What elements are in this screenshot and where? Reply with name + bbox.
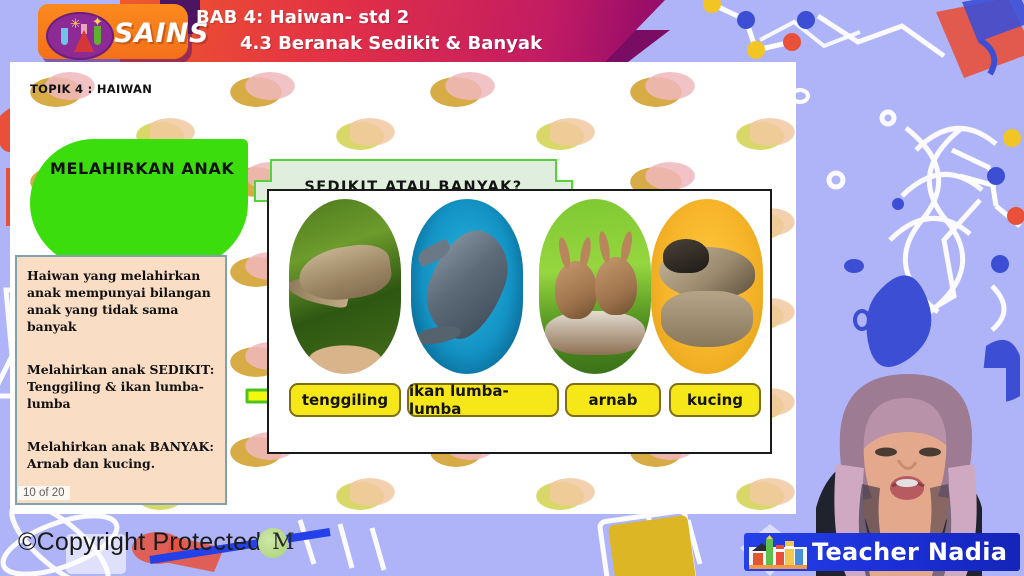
animal-label-rabbit: arnab (565, 383, 661, 417)
info-paragraph-2: Melahirkan anak SEDIKIT: Tenggiling & ik… (27, 361, 215, 412)
dolphin-fluke (416, 323, 462, 348)
animal-label-cat: kucing (669, 383, 761, 417)
subject-label: SAINS (114, 18, 209, 49)
school-supplies-icon (748, 535, 808, 569)
teacher-name-bar: Teacher Nadia (744, 533, 1020, 571)
sparkle-icon: ✳ (70, 16, 81, 32)
info-paragraph-3: Melahirkan anak BANYAK: Arnab dan kucing… (27, 438, 215, 472)
dolphin-photo (411, 199, 523, 374)
subject-badge: ✳ ✦ SAINS (38, 4, 188, 59)
animal-photo-panel: tenggiling ikan lumba-lumba arnab kucing (267, 189, 772, 454)
rabbit-one (555, 261, 597, 319)
animal-cell-rabbit (539, 199, 651, 374)
cat-kittens (661, 291, 753, 347)
animal-cell-dolphin (411, 199, 523, 374)
animal-cell-cat (651, 199, 763, 374)
animal-label-tenggiling: tenggiling (289, 383, 401, 417)
rabbit-ear-icon (557, 236, 572, 269)
tenggiling-photo (289, 199, 401, 374)
slide-stage: ✳ ✦ SAINS BAB 4: Haiwan- std 2 4.3 Beran… (0, 0, 1024, 576)
lesson-slide: TOPIK 4 : HAIWAN MELAHIRKAN ANAK Haiwan … (10, 62, 796, 514)
page-indicator: 10 of 20 (18, 486, 70, 500)
teacher-name-label: Teacher Nadia (812, 538, 1007, 566)
watermark-monogram: M (272, 530, 295, 555)
cat-photo (651, 199, 763, 374)
rabbit-ear-icon (597, 230, 611, 263)
info-paragraph-1: Haiwan yang melahirkan anak mempunyai bi… (27, 267, 215, 335)
lesson-title: BAB 4: Haiwan- std 2 4.3 Beranak Sedikit… (196, 5, 656, 57)
rabbit-two (595, 257, 637, 315)
sparkle-icon: ✦ (92, 14, 103, 30)
info-panel: Haiwan yang melahirkan anak mempunyai bi… (15, 255, 227, 505)
rabbit-babies (545, 311, 645, 355)
rabbit-ear-icon (578, 236, 592, 269)
test-tube-icon (61, 28, 68, 45)
rabbit-ear-icon (619, 230, 634, 263)
topic-label: TOPIK 4 : HAIWAN (30, 82, 152, 96)
rabbit-photo (539, 199, 651, 374)
animal-cell-tenggiling (289, 199, 401, 374)
flask-body-icon (74, 30, 94, 52)
copyright-text: ©Copyright Protected (18, 528, 261, 557)
animal-label-dolphin: ikan lumba-lumba (407, 383, 559, 417)
cat-kitten-dark (663, 239, 709, 273)
lesson-title-line1: BAB 4: Haiwan- std 2 (196, 7, 409, 28)
leaf-callout-label: MELAHIRKAN ANAK (50, 156, 240, 181)
lesson-title-line2: 4.3 Beranak Sedikit & Banyak (196, 31, 656, 57)
science-flask-icon: ✳ ✦ (46, 12, 114, 60)
header-banner: ✳ ✦ SAINS BAB 4: Haiwan- std 2 4.3 Beran… (0, 0, 1024, 62)
